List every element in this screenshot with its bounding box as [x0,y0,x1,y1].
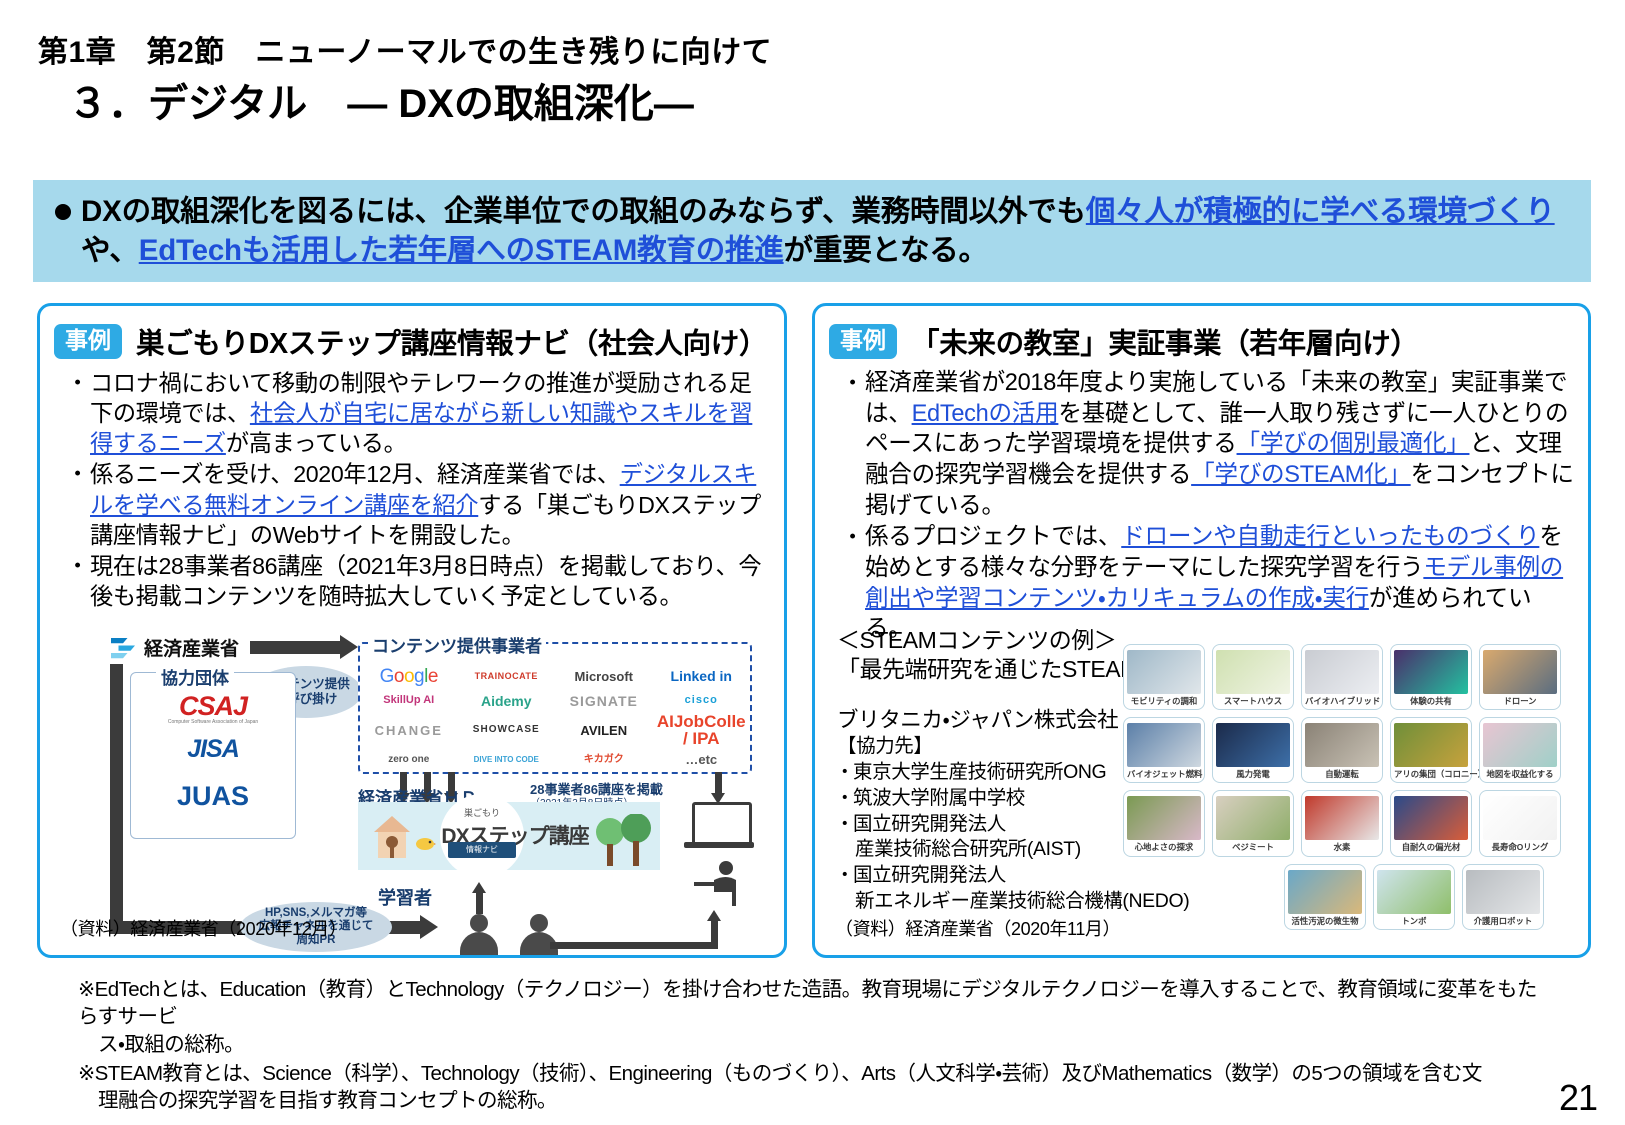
provider-logo: TRAINOCATE [475,672,538,681]
steam-content-card[interactable]: モビリティの調和 [1123,644,1205,710]
banner-line2-highlight-a: に学べる環境づくり [1291,195,1555,228]
partner-item-main: 国立研究開発法人 [853,864,1006,886]
provider-logo: CHANGE [375,724,443,737]
footnotes: ※EdTechとは、Education（教育）とTechnology（テクノロジ… [78,976,1548,1116]
partner-organizations-caption: 協力団体 [156,664,234,689]
learner-person-1 [460,914,498,958]
steam-grid-row: バイオジェット燃料風力発電自動運転アリの集団（コロニー）地図を収益化する [1123,717,1583,783]
arrow-meti-to-providers-shaft [250,641,340,654]
steam-content-thumbnail [1127,723,1201,767]
banner-line2-highlight-b: EdTechも活用した若年層へのSTEAM教育の推進 [139,234,784,267]
steam-content-card[interactable]: 自動運転 [1301,717,1383,783]
learner-person-2 [520,914,558,958]
case-badge-right: 事例 [829,324,897,358]
jisa-logo: JISA [131,735,295,764]
steam-content-thumbnail [1377,870,1451,914]
steam-content-caption: アリの集団（コロニー） [1394,770,1468,779]
steam-content-card[interactable]: スマートハウス [1212,644,1294,710]
provider-logo: …etc [685,753,717,766]
steam-grid-row: 活性汚泥の微生物トンボ介護用ロボット [1123,864,1583,930]
steam-content-card[interactable]: トンボ [1373,864,1455,930]
steam-content-thumbnail [1305,796,1379,840]
csaj-logo: CSAJ [131,691,295,722]
panel-left-header: 事例 巣ごもりDXステップ講座情報ナビ（社会人向け） [54,321,784,362]
steam-content-card[interactable]: 長寿命Oリング [1479,790,1561,856]
steam-content-caption: 活性汚泥の微生物 [1288,917,1362,926]
arrow-learner-to-laptop-horizontal [550,942,718,949]
page-number: 21 [1559,1077,1597,1119]
steam-content-thumbnail [1483,723,1557,767]
footnote-edtech-line1: ※EdTechとは、Education（教育）とTechnology（テクノロジ… [78,978,1537,1028]
steam-content-thumbnail [1483,796,1557,840]
provider-logo: キカガク [584,755,624,765]
content-providers-box: GoogleTRAINOCATEMicrosoftLinked inSkillU… [358,642,752,774]
bullet-item: 経済産業省が2018年度より実施している「未来の教室」実証事業では、EdTech… [841,368,1576,521]
steam-content-caption: バイオハイブリッド [1305,697,1379,706]
partner-item-main: 国立研究開発法人 [853,813,1006,835]
steam-content-caption: 地図を収益化する [1483,770,1557,779]
provider-logo: SIGNATE [570,694,638,708]
case-badge-left: 事例 [54,324,122,358]
arrow-learner-to-site-shaft [476,892,483,914]
bullet-highlight-text: 「学びのSTEAM化」 [1191,462,1411,488]
steam-content-caption: モビリティの調和 [1127,697,1201,706]
bullet-item: 係るニーズを受け、2020年12月、経済産業省では、デジタルスキルを学べる無料オ… [66,459,772,549]
provider-logo: Google [380,667,438,686]
steam-content-card[interactable]: 自耐久の偏光材 [1390,790,1472,856]
panel-right-header: 事例 「未来の教室」実証事業（若年層向け） [829,321,1588,362]
trees-icon [590,814,656,870]
steam-content-caption: 自動運転 [1305,770,1379,779]
banner-line2-middle: や、 [81,234,139,267]
partner-organizations-box: CSAJ Computer Software Association of Ja… [130,672,296,839]
footnote-steam-line2: 理融合の探究学習を目指す教育コンセプトの総称。 [78,1087,1548,1114]
steam-content-card[interactable]: バイオハイブリッド [1301,644,1383,710]
steam-content-caption: 介護用ロボット [1466,917,1540,926]
panel-left-bullet-list: コロナ禍において移動の制限やテレワークの推進が奨励される足下の環境では、社会人が… [40,368,784,611]
provider-logo: Linked in [671,669,732,683]
steam-content-thumbnail [1466,870,1540,914]
steam-content-caption: 自耐久の偏光材 [1394,843,1468,852]
provider-logo: AVILEN [580,724,627,737]
steam-grid-row: モビリティの調和スマートハウスバイオハイブリッド体験の共有ドローン [1123,644,1583,710]
steam-content-card[interactable]: 介護用ロボット [1462,864,1544,930]
banner-line1-highlight: 個々人が積極的 [1086,195,1291,228]
site-logo-ribbon-text: 情報ナビ [466,845,498,854]
steam-content-card[interactable]: 心地よさの探求 [1123,790,1205,856]
steam-content-caption: ドローン [1483,697,1557,706]
partner-item-main: 筑波大学附属中学校 [853,787,1025,809]
steam-content-card[interactable]: ベジミート [1212,790,1294,856]
steam-content-thumbnail [1305,723,1379,767]
steam-content-card[interactable]: 地図を収益化する [1479,717,1561,783]
footnote-steam: ※STEAM教育とは、Science（科学）、Technology（技術）、En… [78,1060,1548,1115]
bullet-highlight-text: EdTechの活用 [912,401,1059,427]
partner-item-main: 東京大学生産技術研究所ONG [853,761,1106,783]
footnote-steam-line1: ※STEAM教育とは、Science（科学）、Technology（技術）、En… [78,1062,1482,1085]
steam-content-thumbnail [1394,796,1468,840]
steam-content-caption: 風力発電 [1216,770,1290,779]
bullet-highlight-text: ドローンや自動走行といったものづくり [1121,524,1539,550]
arrow-providers-to-laptop-shaft [715,772,722,794]
meti-label: 経済産業省 [144,634,239,661]
bullet-plain-text: 現在は28事業者86講座（2021年3月8日時点）を掲載しており、今後も掲載コン… [90,553,761,609]
content-providers-grid: GoogleTRAINOCATEMicrosoftLinked inSkillU… [360,664,750,772]
bullet-highlight-text: 「学びの個別最適化」 [1237,431,1470,457]
arrow-learner-to-site-head [472,882,486,893]
laptop-base-icon [684,842,754,848]
content-providers-caption: コンテンツ提供事業者 [368,632,546,657]
learner-label: 学習者 [378,884,432,910]
steam-content-card[interactable]: 活性汚泥の微生物 [1284,864,1366,930]
steam-content-caption: トンボ [1377,917,1451,926]
provider-logo: Microsoft [575,670,634,683]
steam-contents-thumbnail-grid: モビリティの調和スマートハウスバイオハイブリッド体験の共有ドローンバイオジェット… [1123,644,1583,937]
steam-content-caption: スマートハウス [1216,697,1290,706]
bullet-plain-text: が高まっている。 [226,430,407,456]
provider-logo: SHOWCASE [473,725,540,735]
footnote-edtech: ※EdTechとは、Education（教育）とTechnology（テクノロジ… [78,976,1548,1058]
steam-content-card[interactable]: バイオジェット燃料 [1123,717,1205,783]
provider-logo: zero one [388,755,429,765]
chapter-section-line: 第1章 第2節 ニューノーマルでの生き残りに向けて [38,36,1578,69]
site-logo-ribbon: 情報ナビ [448,842,516,858]
provider-logo: SkillUp AI [383,695,434,706]
arrow-meti-to-providers-head [340,635,358,659]
arrow-meti-pr-head [420,915,438,939]
panel-left-title: 巣ごもりDXステップ講座情報ナビ（社会人向け） [136,321,767,362]
steam-content-thumbnail [1394,650,1468,694]
footnote-edtech-line2: ス・取組の総称。 [78,1031,1548,1058]
provider-logo: AIJobColle / IPA [653,713,751,747]
steam-content-thumbnail [1288,870,1362,914]
steam-content-thumbnail [1127,650,1201,694]
steam-content-thumbnail [1216,796,1290,840]
steam-content-thumbnail [1216,650,1290,694]
steam-content-card[interactable]: 風力発電 [1212,717,1294,783]
steam-content-caption: 心地よさの探求 [1127,843,1201,852]
provider-logo: cisco [685,695,718,706]
juas-logo: JUAS [131,781,295,812]
steam-content-caption: 体験の共有 [1394,697,1468,706]
steam-content-card[interactable]: ドローン [1479,644,1561,710]
steam-content-caption: 長寿命Oリング [1483,843,1557,852]
provider-logo: Aidemy [481,694,532,708]
arrow-meti-pr-vertical [110,664,123,934]
banner-line1-plain: DXの取組深化を図るには、企業単位での取組のみならず、業務時間以外でも [81,195,1086,228]
summary-banner-text: DXの取組深化を図るには、企業単位での取組のみならず、業務時間以外でも個々人が積… [81,192,1573,270]
steam-grid-row: 心地よさの探求ベジミート水素自耐久の偏光材長寿命Oリング [1123,790,1583,856]
arrow-learner-to-laptop-vertical [711,920,718,946]
panel-left-source: （資料）経済産業省（2020年12月） [60,915,346,941]
bullet-point-icon [55,204,71,220]
seated-learner-icon [692,860,748,908]
learner-person-1-head [470,914,488,932]
banner-line2-end: が重要となる。 [784,234,988,267]
bullet-plain-text: 係るニーズを受け、2020年12月、経済産業省では、 [90,461,620,487]
panel-right-source: （資料）経済産業省（2020年11月） [835,915,1120,941]
case-panel-right: 事例 「未来の教室」実証事業（若年層向け） 経済産業省が2018年度より実施して… [812,303,1591,958]
meti-dx-step-course-diagram: 経済産業省 コンテンツ提供 を呼び掛け CSAJ Computer Softwa… [100,624,760,924]
steam-content-card[interactable]: 水素 [1301,790,1383,856]
learner-person-1-body [460,932,498,958]
course-count-main: 28事業者86講座を掲載 [530,782,663,797]
steam-content-caption: 水素 [1305,843,1379,852]
steam-content-card[interactable]: 体験の共有 [1390,644,1472,710]
case-panel-left: 事例 巣ごもりDXステップ講座情報ナビ（社会人向け） コロナ禍において移動の制限… [37,303,787,958]
meti-logo-icon [108,632,138,662]
provider-logo: DIVE INTO CODE [474,756,539,764]
csaj-logo-subtext: Computer Software Association of Japan [131,719,295,725]
steam-content-caption: ベジミート [1216,843,1290,852]
page-title: ３．デジタル ― DXの取組深化― [68,82,1578,126]
arrow-learner-to-laptop-head [707,910,721,921]
steam-content-thumbnail [1216,723,1290,767]
steam-content-card[interactable]: アリの集団（コロニー） [1390,717,1472,783]
steam-content-thumbnail [1394,723,1468,767]
steam-content-thumbnail [1127,796,1201,840]
panel-right-title: 「未来の教室」実証事業（若年層向け） [911,321,1419,362]
bullet-plain-text: 係るプロジェクトでは、 [865,524,1121,550]
steam-content-caption: バイオジェット燃料 [1127,770,1201,779]
steam-content-thumbnail [1483,650,1557,694]
summary-banner: DXの取組深化を図るには、企業単位での取組のみならず、業務時間以外でも個々人が積… [33,180,1591,282]
site-logo-subtitle: 巣ごもり [440,806,524,819]
panel-right-bullet-list: 経済産業省が2018年度より実施している「未来の教室」実証事業では、EdTech… [815,368,1588,645]
bullet-item: 現在は28事業者86講座（2021年3月8日時点）を掲載しており、今後も掲載コン… [66,551,772,611]
steam-content-thumbnail [1305,650,1379,694]
bullet-item: コロナ禍において移動の制限やテレワークの推進が奨励される足下の環境では、社会人が… [66,368,772,458]
slide-header: 第1章 第2節 ニューノーマルでの生き残りに向けて ３．デジタル ― DXの取組… [38,36,1578,126]
learner-person-2-head [530,914,548,932]
